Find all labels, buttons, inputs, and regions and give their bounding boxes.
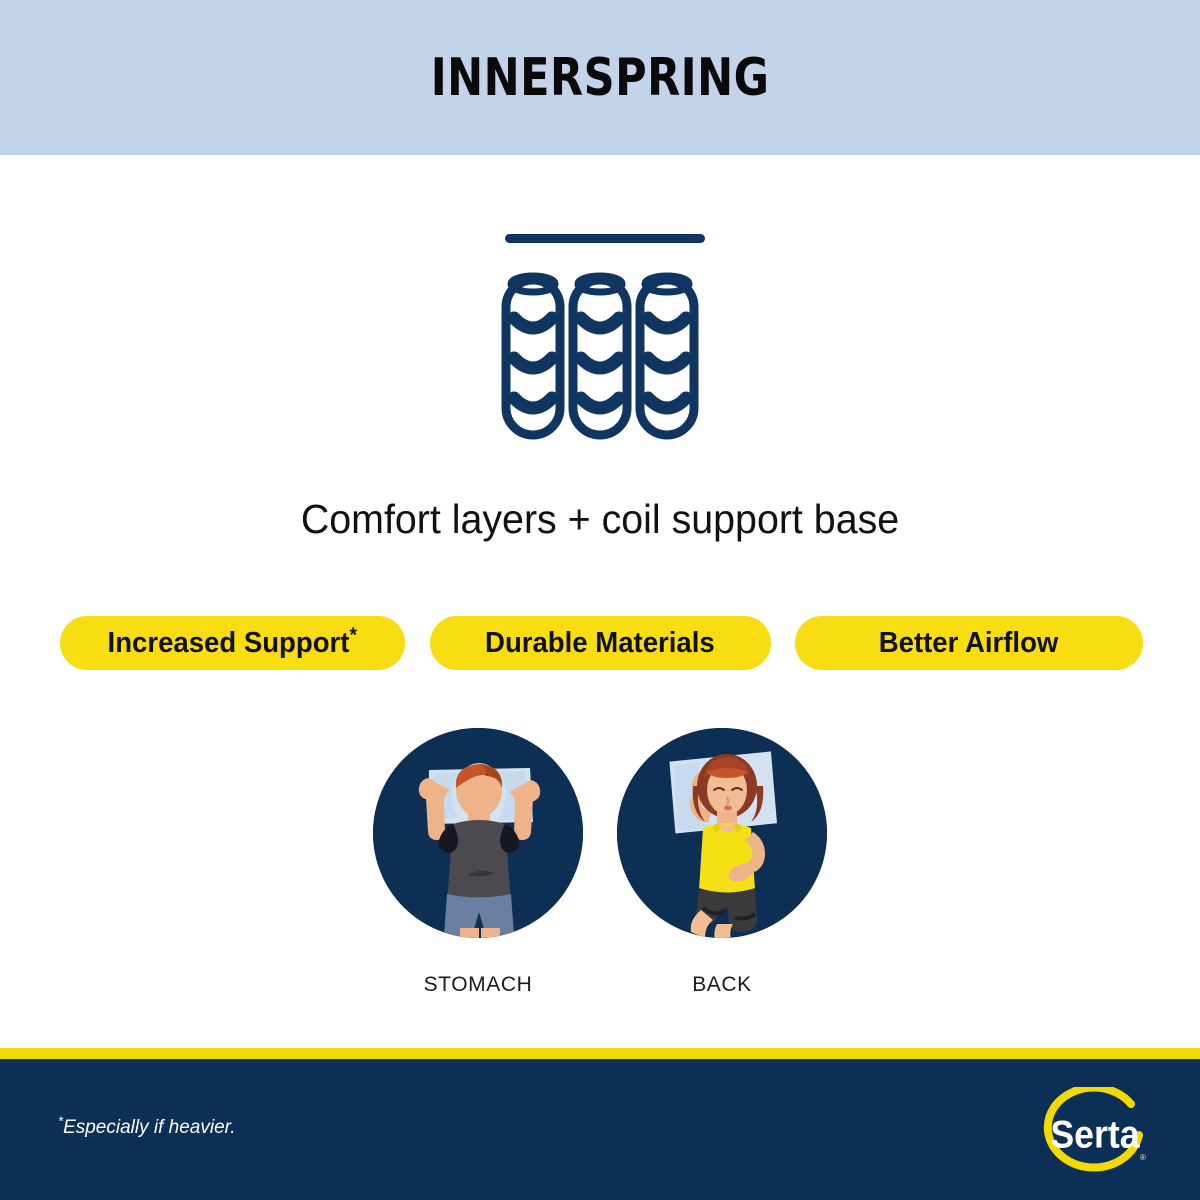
footnote-text: *Especially if heavier. — [58, 1117, 236, 1139]
feature-pill-label: Better Airflow — [879, 627, 1059, 660]
subtitle: Comfort layers + coil support base — [24, 496, 1176, 543]
feature-pill-label: Increased Support* — [108, 627, 357, 660]
feature-pill-better-airflow[interactable]: Better Airflow — [795, 616, 1143, 670]
feature-pill-increased-support[interactable]: Increased Support* — [60, 616, 405, 670]
innerspring-coils-icon-container — [0, 212, 1200, 442]
stomach-sleeper-illustration — [373, 728, 583, 938]
sleep-position-back[interactable]: BACK — [617, 728, 827, 997]
sleep-position-row: STOMACH — [0, 728, 1200, 997]
back-sleeper-circle — [617, 728, 827, 938]
feature-pill-durable-materials[interactable]: Durable Materials — [430, 616, 771, 670]
page-title: INNERSPRING — [431, 48, 770, 108]
sleep-position-caption: STOMACH — [424, 973, 533, 997]
feature-pill-row: Increased Support* Durable Materials Bet… — [60, 616, 1143, 670]
sleep-position-caption: BACK — [692, 973, 752, 997]
back-sleeper-illustration — [617, 728, 827, 938]
feature-pill-label: Durable Materials — [485, 627, 715, 660]
serta-logo-mark: Serta ® — [1043, 1087, 1153, 1187]
serta-logo[interactable]: Serta ® — [1043, 1087, 1153, 1192]
sleep-position-stomach[interactable]: STOMACH — [373, 728, 583, 997]
footer-accent-stripe — [0, 1048, 1200, 1059]
footnote-asterisk: * — [350, 624, 357, 646]
stomach-sleeper-circle — [373, 728, 583, 938]
registered-trademark-mark: ® — [1140, 1153, 1146, 1162]
innerspring-coils-icon — [485, 212, 715, 442]
header-band: INNERSPRING — [0, 0, 1200, 155]
serta-wordmark: Serta — [1050, 1112, 1140, 1156]
